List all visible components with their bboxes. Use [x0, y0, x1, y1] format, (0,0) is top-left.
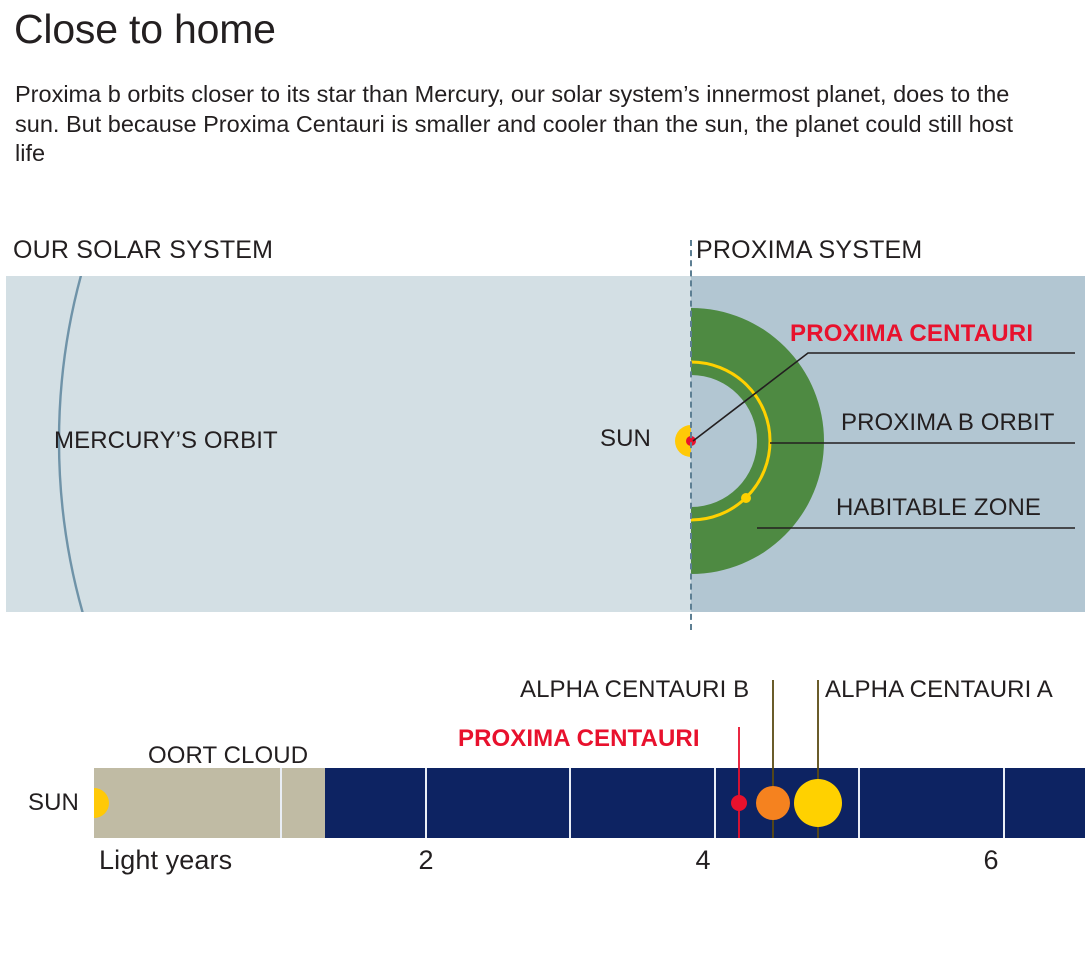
timeline-tick-6: [1003, 768, 1005, 838]
timeline-tick-label-6: 6: [983, 845, 998, 876]
label-alpha-centauri-a: ALPHA CENTAURI A: [825, 676, 1053, 704]
panel-divider-dashed-line: [690, 240, 692, 630]
axis-title-light-years: Light years: [99, 845, 232, 876]
timeline-tick-4: [714, 768, 716, 838]
timeline-tick-label-2: 2: [418, 845, 433, 876]
page-title: Close to home: [14, 6, 276, 53]
timeline-tick-5: [858, 768, 860, 838]
oort-cloud-band: [94, 768, 325, 838]
label-alpha-centauri-b: ALPHA CENTAURI B: [520, 676, 749, 704]
label-sun-timeline: SUN: [28, 789, 79, 817]
label-mercurys-orbit: MERCURY’S ORBIT: [54, 427, 278, 455]
label-oort-cloud: OORT CLOUD: [148, 742, 308, 770]
label-proxima-centauri-diagram: PROXIMA CENTAURI: [790, 320, 1033, 348]
timeline-tick-label-4: 4: [695, 845, 710, 876]
page-standfirst: Proxima b orbits closer to its star than…: [15, 80, 1015, 169]
caption-our-solar-system: OUR SOLAR SYSTEM: [13, 236, 273, 265]
timeline-tick-2: [425, 768, 427, 838]
label-proxima-centauri-timeline: PROXIMA CENTAURI: [458, 725, 700, 753]
timeline-tick-1: [280, 768, 282, 838]
timeline-tick-3: [569, 768, 571, 838]
label-proxima-b-orbit: PROXIMA B ORBIT: [841, 409, 1055, 437]
label-habitable-zone: HABITABLE ZONE: [836, 494, 1041, 522]
caption-proxima-system: PROXIMA SYSTEM: [696, 236, 922, 265]
label-sun-diagram: SUN: [600, 425, 651, 453]
